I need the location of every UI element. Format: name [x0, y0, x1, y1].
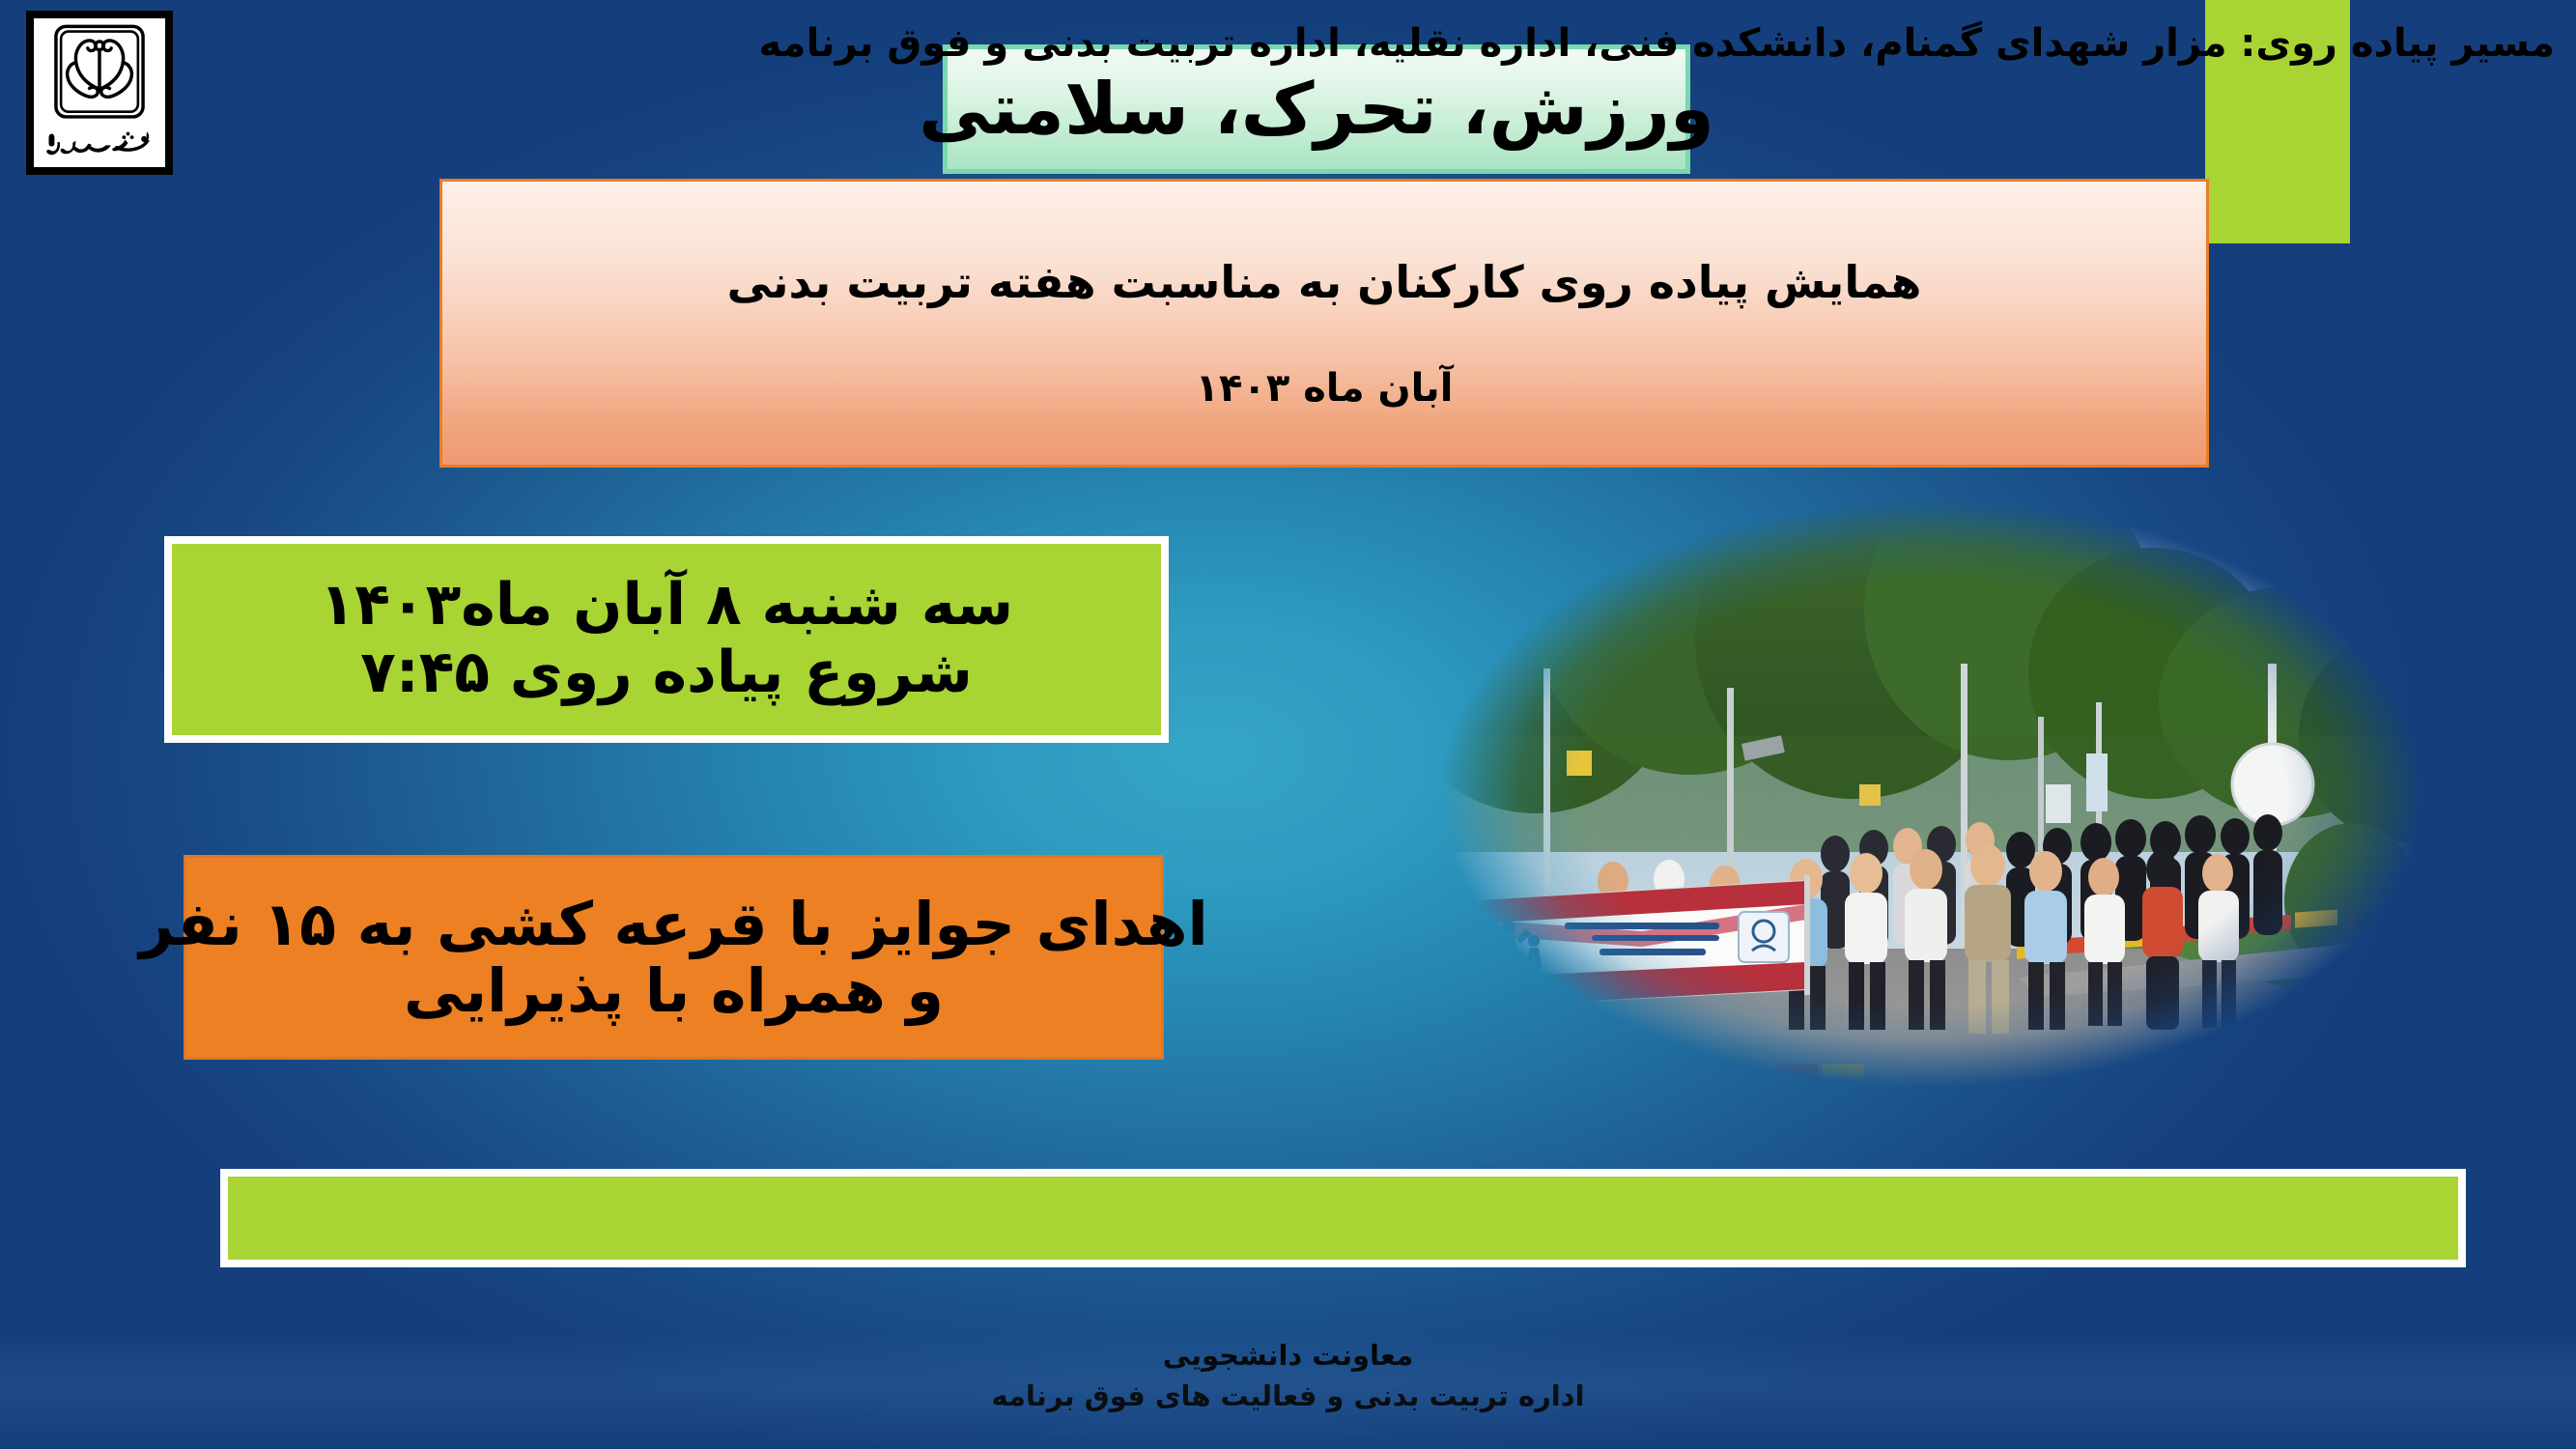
gilan-butterfly-emblem-icon	[49, 22, 150, 123]
date-line-1: سه شنبه ۸ آبان ماه۱۴۰۳	[320, 572, 1013, 639]
poster-canvas: ورزش، تحرک، سلامتی همایش پیاده روی کارکن…	[0, 0, 2576, 1449]
headline-box: همایش پیاده روی کارکنان به مناسبت هفته ت…	[439, 179, 2209, 468]
walking-rally-illustration-icon	[1420, 495, 2444, 1094]
footer-line-1: معاونت دانشجویی	[0, 1335, 2576, 1376]
prize-line-2: و همراه با پذیرایی	[404, 957, 944, 1024]
headline-primary: همایش پیاده روی کارکنان به مناسبت هفته ت…	[727, 258, 1922, 307]
headline-date: آبان ماه ۱۴۰۳	[1196, 367, 1454, 410]
poster-title: ورزش، تحرک، سلامتی	[919, 73, 1714, 145]
date-line-2: شروع پیاده روی ۷:۴۵	[360, 639, 973, 707]
event-photo-masked	[1420, 495, 2444, 1094]
logo-inner-plate	[34, 18, 165, 167]
prize-box: اهدای جوایز با قرعه کشی به ۱۵ نفر و همرا…	[184, 855, 1164, 1060]
logo-wordmark-icon	[42, 124, 156, 162]
event-photo	[1420, 495, 2444, 1094]
footer-credits: معاونت دانشجویی اداره تربیت بدنی و فعالی…	[0, 1335, 2576, 1416]
university-logo	[26, 11, 173, 175]
route-box	[220, 1169, 2466, 1267]
date-box: سه شنبه ۸ آبان ماه۱۴۰۳ شروع پیاده روی ۷:…	[164, 536, 1169, 743]
route-text: مسیر پیاده روی: مزار شهدای گمنام، دانشکد…	[362, 14, 2555, 73]
footer-line-2: اداره تربیت بدنی و فعالیت های فوق برنامه	[0, 1376, 2576, 1416]
prize-line-1: اهدای جوایز با قرعه کشی به ۱۵ نفر	[139, 891, 1207, 957]
